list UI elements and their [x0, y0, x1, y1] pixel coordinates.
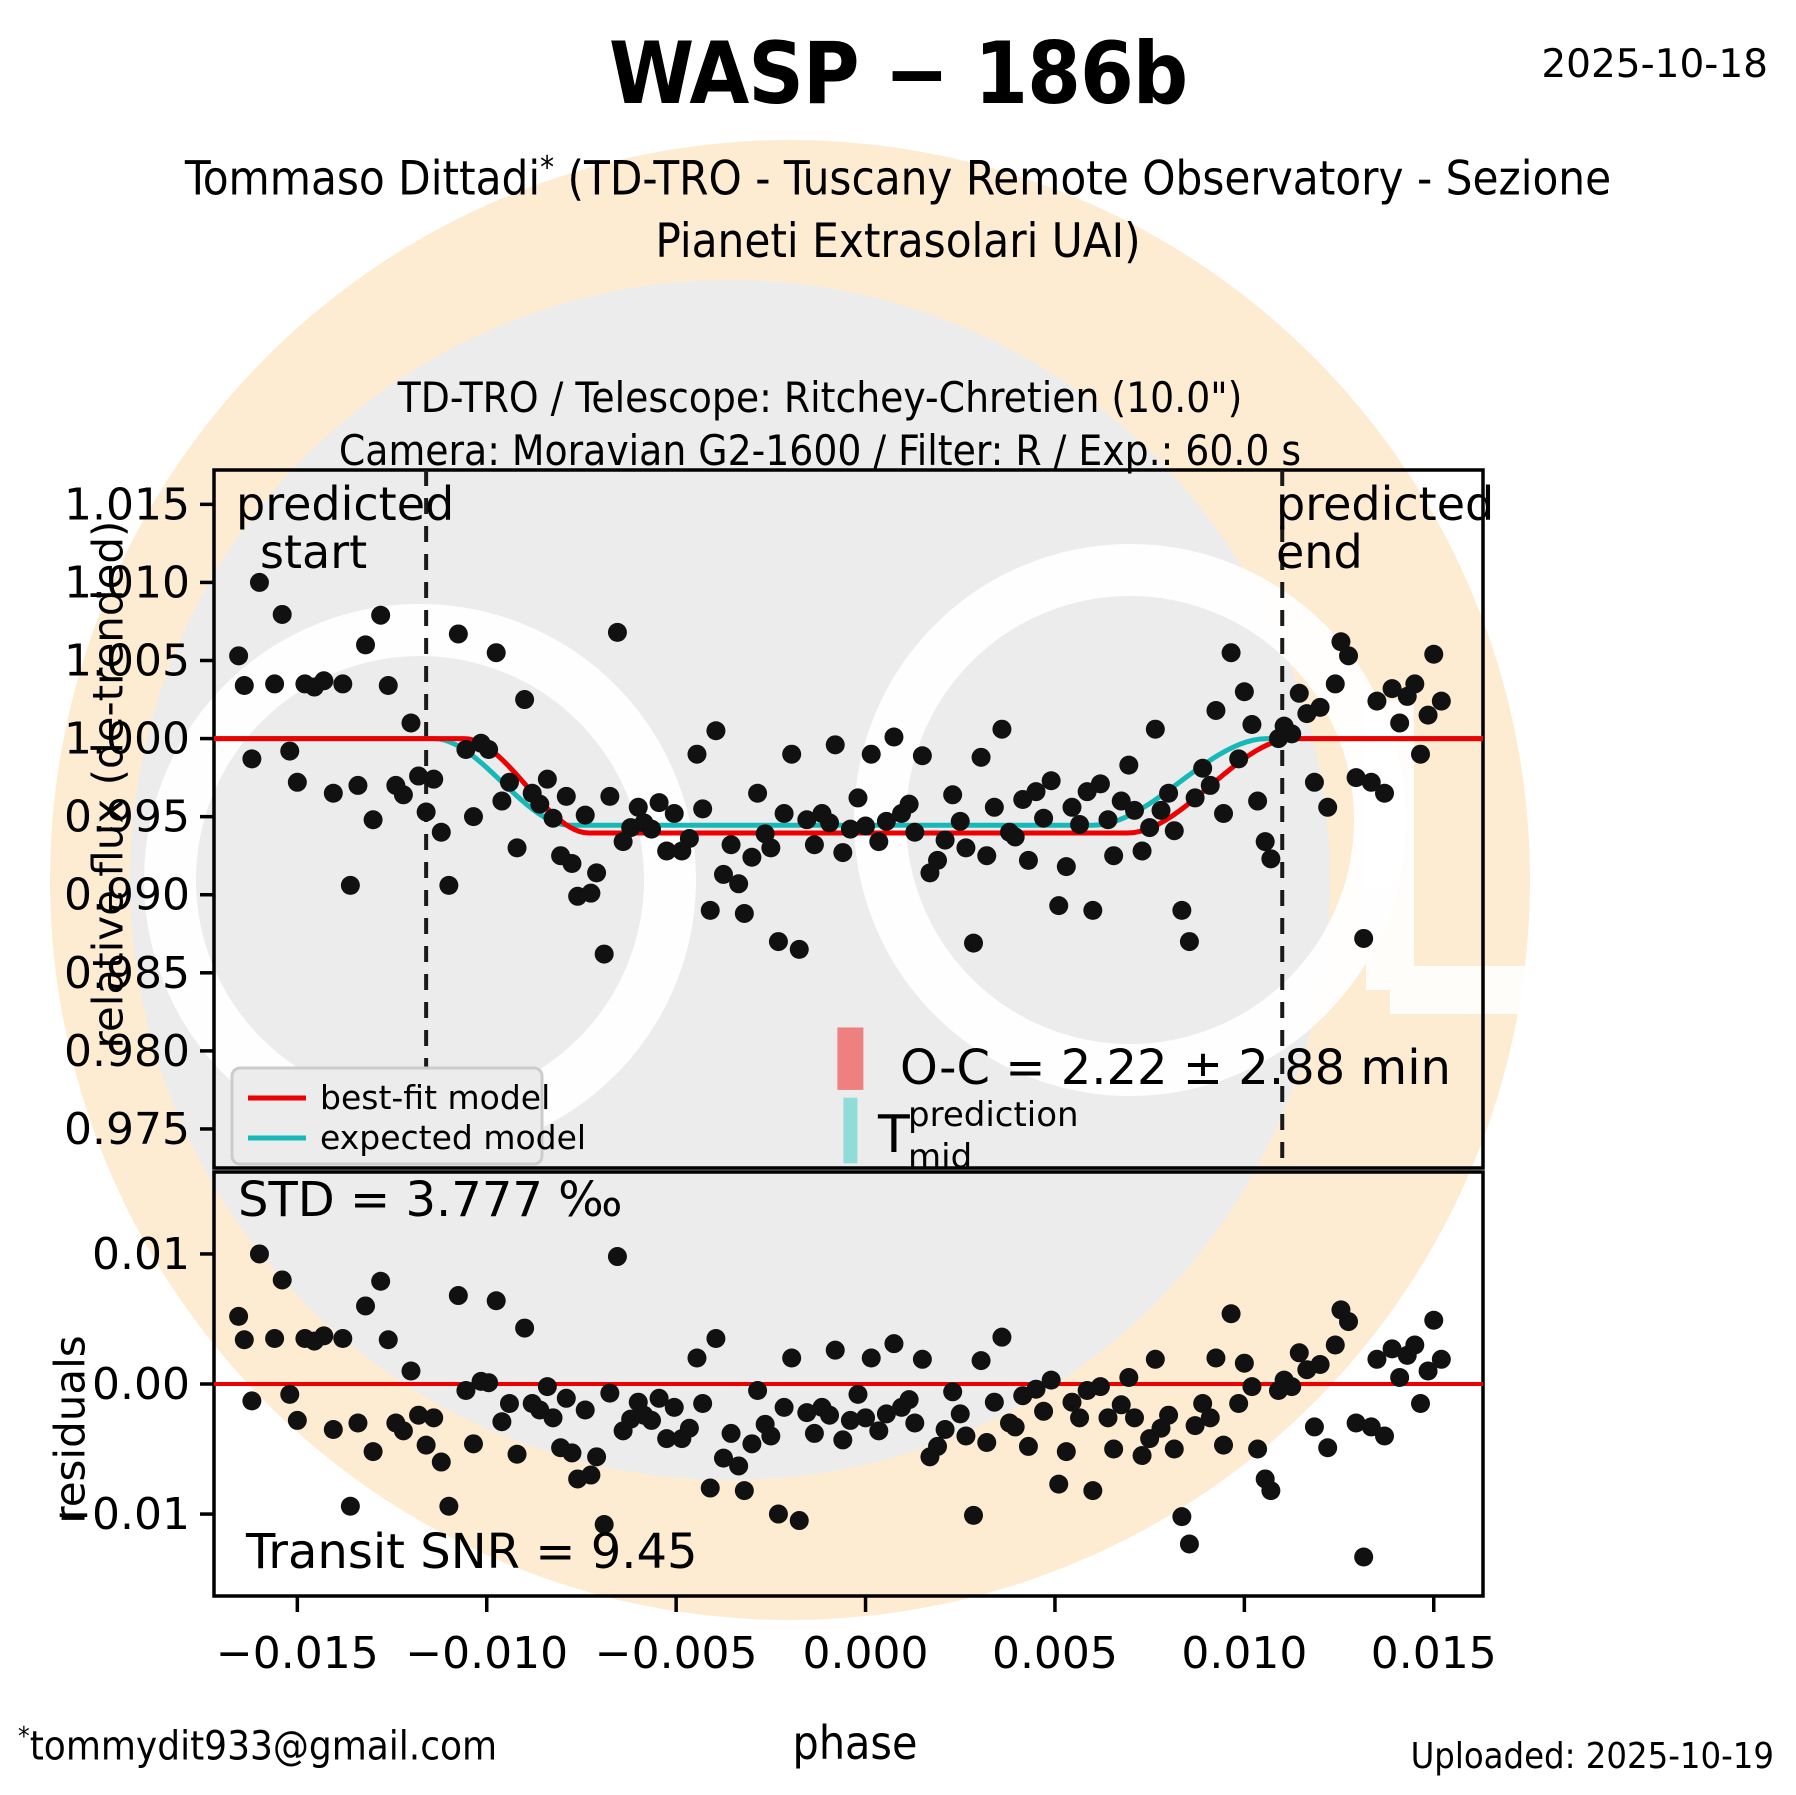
std-annotation: STD = 3.777 ‰ [238, 1172, 623, 1228]
predicted-start-label-line2: start [260, 525, 367, 579]
main-y-tick-label: 1.015 [64, 479, 190, 530]
snr-annotation: Transit SNR = 9.45 [245, 1524, 698, 1580]
oc-annotation: O-C = 2.22 ± 2.88 min [900, 1040, 1451, 1096]
x-tick-label: −0.015 [216, 1628, 379, 1679]
tmid-prediction-label: Tpredictionmid [877, 1095, 1079, 1177]
main-y-tick-label: 0.995 [64, 792, 190, 843]
legend-item-label[interactable]: expected model [320, 1118, 586, 1157]
legend-item-label[interactable]: best-fit model [320, 1078, 550, 1117]
main-y-tick-label: 1.000 [64, 714, 190, 765]
svg-text:prediction: prediction [908, 1095, 1079, 1135]
flux-data-points [229, 573, 1451, 964]
residual-data-points [229, 1244, 1451, 1566]
predicted-end-label: predicted [1276, 477, 1494, 531]
x-tick-label: 0.010 [1181, 1628, 1307, 1679]
main-y-tick-label: 0.985 [64, 948, 190, 999]
oc-marker [837, 1027, 863, 1163]
residual-y-tick-label: 0.00 [92, 1359, 190, 1410]
transit-light-curve-chart: 1.0151.0101.0051.0000.9950.9900.9850.980… [0, 0, 1796, 1795]
main-y-tick-label: 0.980 [64, 1026, 190, 1077]
residual-panel-axis-ticks: 0.010.00−0.01 [55, 1229, 214, 1540]
main-y-tick-label: 0.975 [64, 1104, 190, 1155]
x-tick-label: −0.005 [595, 1628, 758, 1679]
svg-text:mid: mid [908, 1137, 972, 1177]
x-tick-label: 0.005 [992, 1628, 1118, 1679]
main-y-tick-label: 1.010 [64, 557, 190, 608]
x-tick-label: 0.015 [1371, 1628, 1497, 1679]
main-y-tick-label: 1.005 [64, 636, 190, 687]
predicted-end-label-line2: end [1276, 525, 1363, 579]
main-panel-axis-ticks: 1.0151.0101.0051.0000.9950.9900.9850.980… [64, 479, 214, 1155]
residual-y-tick-label: 0.01 [92, 1229, 190, 1280]
predicted-start-label: predicted [236, 477, 454, 531]
chart-legend[interactable]: best-fit modelexpected model [232, 1068, 586, 1164]
svg-text:T: T [877, 1105, 910, 1165]
x-tick-label: 0.000 [803, 1628, 929, 1679]
x-axis-ticks: −0.015−0.010−0.0050.0000.0050.0100.015 [216, 1596, 1497, 1679]
main-y-tick-label: 0.990 [64, 870, 190, 921]
x-tick-label: −0.010 [405, 1628, 568, 1679]
residual-y-tick-label: −0.01 [55, 1489, 190, 1540]
